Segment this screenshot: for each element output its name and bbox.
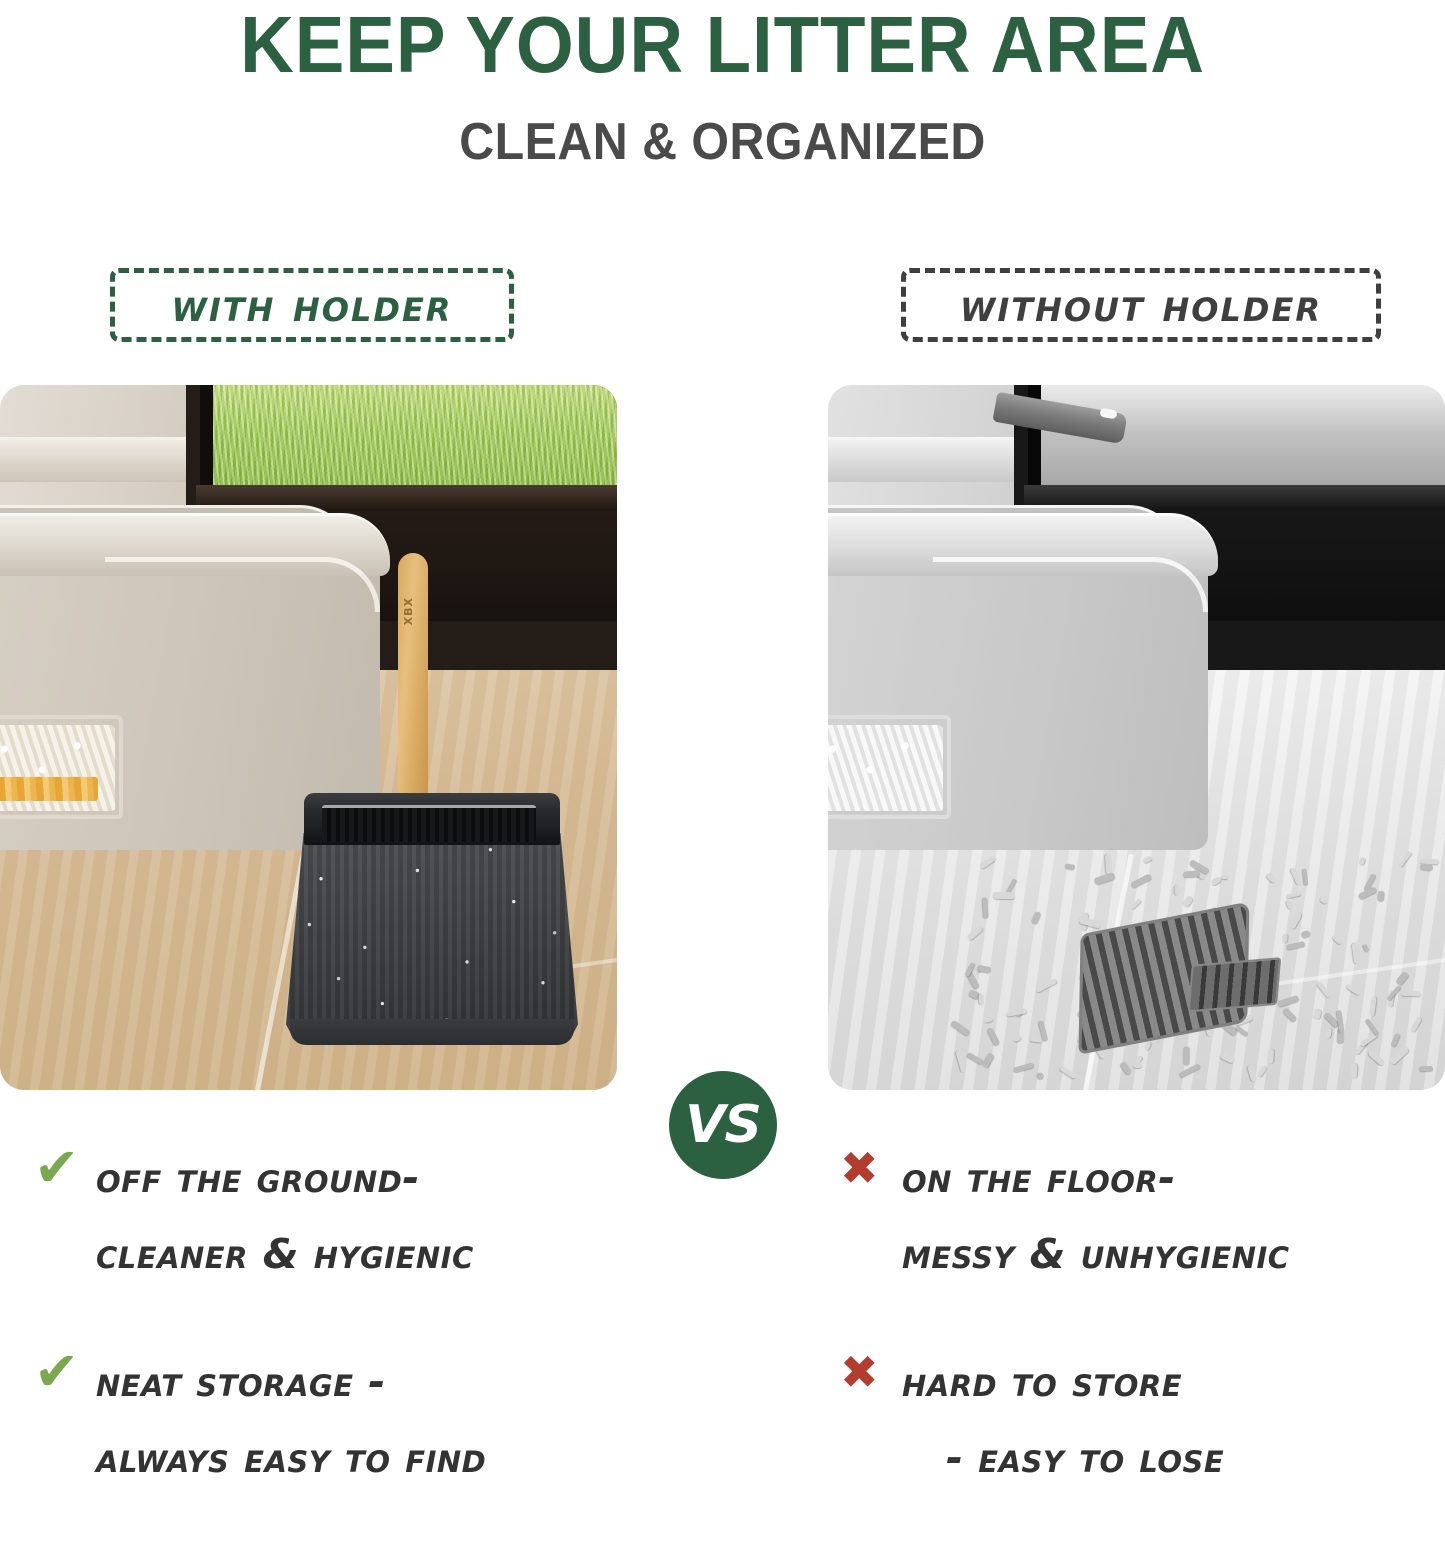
cross-icon: ✖ bbox=[840, 1140, 902, 1196]
litter-pellet bbox=[1178, 1063, 1201, 1078]
scoop-front-slots bbox=[1188, 957, 1282, 1012]
photo-with-holder: XBX bbox=[0, 385, 617, 1090]
litter-pellet bbox=[1377, 890, 1384, 902]
litter-pellet bbox=[979, 854, 997, 869]
list-item: ✔ Neat storage - always easy to find bbox=[34, 1344, 694, 1496]
list-item: ✖ Hard to store - easy to lose bbox=[840, 1344, 1445, 1496]
scoop-holder bbox=[286, 793, 578, 1045]
bullet-line-1: Hard to store bbox=[902, 1358, 1182, 1406]
holder-mouth-inner bbox=[322, 805, 536, 842]
scoop-wooden-handle bbox=[398, 553, 428, 803]
bullet-text: Off the ground- cleaner & hygienic bbox=[96, 1140, 474, 1292]
bullet-line-1: On the floor- bbox=[902, 1154, 1176, 1202]
handle-logo: XBX bbox=[402, 597, 424, 625]
litter-pellet bbox=[1389, 1046, 1410, 1066]
holder-body bbox=[286, 833, 578, 1041]
holder-foot bbox=[290, 1019, 574, 1045]
comparison-panels: XBX VS bbox=[0, 385, 1445, 1090]
litter-pellet bbox=[1120, 1061, 1133, 1076]
bullet-line-1: Neat storage - bbox=[96, 1358, 386, 1406]
litter-pellet bbox=[1351, 1064, 1358, 1079]
check-icon: ✔ bbox=[34, 1344, 96, 1400]
bullet-line-2: - easy to lose bbox=[902, 1420, 1224, 1496]
bullet-line-2: always easy to find bbox=[96, 1420, 486, 1496]
litter-pellet bbox=[1013, 1034, 1023, 1042]
litter-pellet bbox=[966, 1052, 985, 1066]
badge-row: With Holder Without Holder bbox=[0, 264, 1445, 356]
litter-pellet bbox=[1324, 1027, 1332, 1038]
litter-pellet bbox=[1143, 855, 1153, 864]
litter-pellet bbox=[1183, 1046, 1189, 1065]
litter-pellet bbox=[1065, 864, 1075, 870]
litter-pellet bbox=[1409, 1016, 1421, 1032]
litter-pellet bbox=[984, 1016, 994, 1023]
scene-with-holder: XBX bbox=[0, 385, 617, 1090]
header: KEEP YOUR LITTER AREA CLEAN & ORGANIZED bbox=[0, 0, 1445, 172]
litter-pellet bbox=[1266, 872, 1278, 884]
check-icon: ✔ bbox=[34, 1140, 96, 1196]
litter-pellet bbox=[1219, 1051, 1235, 1063]
litter-pellet bbox=[979, 994, 985, 1005]
list-item: ✖ On the floor- messy & unhygienic bbox=[840, 1140, 1445, 1292]
litter-pellet bbox=[966, 925, 983, 941]
scene-without-holder bbox=[828, 385, 1445, 1090]
litter-pellet bbox=[1030, 1038, 1042, 1044]
litter-pellet bbox=[1419, 1066, 1433, 1071]
litter-pellet bbox=[1059, 1066, 1077, 1080]
litter-pellet bbox=[1104, 853, 1112, 874]
litter-pellet bbox=[1037, 1071, 1046, 1080]
vs-badge: VS bbox=[669, 1071, 777, 1179]
litter-pellet bbox=[1030, 911, 1041, 925]
litter-pellet bbox=[1398, 850, 1412, 867]
bullet-line-2: cleaner & hygienic bbox=[96, 1216, 474, 1292]
litter-pellet bbox=[1395, 971, 1409, 986]
litter-orange-pellets bbox=[0, 777, 98, 801]
bullet-text: On the floor- messy & unhygienic bbox=[902, 1140, 1290, 1292]
bullet-lists: ✔ Off the ground- cleaner & hygienic ✔ N… bbox=[0, 1140, 1445, 1461]
bullet-line-1: Off the ground- bbox=[96, 1154, 420, 1202]
litter-pellet bbox=[1013, 1062, 1035, 1072]
badge-with-holder: With Holder bbox=[110, 268, 514, 342]
litter-pellet bbox=[956, 1051, 967, 1073]
bullet-text: Neat storage - always easy to find bbox=[96, 1344, 486, 1496]
bullets-with-holder: ✔ Off the ground- cleaner & hygienic ✔ N… bbox=[34, 1140, 694, 1548]
litter-pellet bbox=[1183, 870, 1200, 877]
litter-pellet bbox=[992, 892, 1014, 899]
list-item: ✔ Off the ground- cleaner & hygienic bbox=[34, 1140, 694, 1292]
bullets-without-holder: ✖ On the floor- messy & unhygienic ✖ Har… bbox=[840, 1140, 1445, 1548]
photo-without-holder bbox=[828, 385, 1445, 1090]
grass-outside bbox=[213, 385, 617, 485]
litter-box-lip bbox=[105, 557, 380, 612]
litter-pellet bbox=[950, 1020, 971, 1037]
litter-pellet bbox=[1133, 1062, 1142, 1068]
litter-pellet bbox=[1390, 1033, 1400, 1048]
litter-pellet bbox=[1401, 991, 1421, 997]
litter-pellet bbox=[1035, 978, 1058, 993]
bullet-text: Hard to store - easy to lose bbox=[902, 1344, 1224, 1496]
page-subtitle: CLEAN & ORGANIZED bbox=[51, 112, 1395, 172]
litter-pellet bbox=[1130, 898, 1141, 909]
baseboard bbox=[0, 437, 192, 482]
cross-icon: ✖ bbox=[840, 1344, 902, 1400]
litter-pellet bbox=[1175, 885, 1180, 895]
litter-pellet bbox=[1256, 1066, 1266, 1079]
litter-pellet bbox=[1267, 1048, 1274, 1064]
badge-without-holder: Without Holder bbox=[901, 268, 1381, 342]
litter-pellet bbox=[983, 898, 989, 920]
litter-pellet bbox=[1367, 1049, 1385, 1066]
litter-pellet bbox=[1420, 864, 1433, 871]
litter-pellet bbox=[987, 1027, 1001, 1047]
page-title: KEEP YOUR LITTER AREA bbox=[51, 4, 1395, 86]
litter-pellet bbox=[1220, 875, 1228, 879]
bullet-line-2: messy & unhygienic bbox=[902, 1216, 1290, 1292]
litter-pellet bbox=[1358, 857, 1365, 866]
litter-pellet bbox=[1093, 872, 1115, 885]
litter-pellet bbox=[1210, 876, 1222, 886]
litter-pellet bbox=[1130, 873, 1152, 888]
